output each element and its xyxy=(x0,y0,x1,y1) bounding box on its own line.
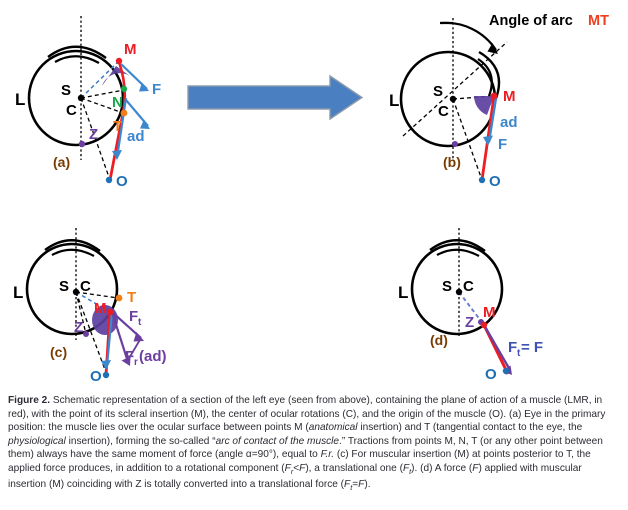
caption-italic-fr: F.r. xyxy=(321,449,334,460)
panel-d-label-M: M xyxy=(483,304,496,321)
panel-a-point-M xyxy=(116,58,122,64)
panel-c-label-Fr-suffix: (ad) xyxy=(139,348,167,365)
panel-c-label-Fr: F r (ad) xyxy=(125,348,167,368)
rightwards-block-arrow-icon xyxy=(188,76,362,119)
panel-c-point-T xyxy=(116,295,123,302)
panel-d-label-O: O xyxy=(485,366,497,383)
panel-d-label-Ft-main: F xyxy=(508,339,517,356)
caption-part-2: insertion) and T (tangential contact to … xyxy=(358,422,583,433)
caption-italic-arc-of-contact: arc of contact of the muscle xyxy=(216,436,339,447)
panel-b-force-arrowhead xyxy=(483,136,493,147)
panel-d-point-C xyxy=(456,289,462,295)
panel-a-label-S: S xyxy=(61,82,71,99)
caption-part-7: ), a translational one ( xyxy=(305,463,403,474)
panel-b-title-plain: Angle of arc xyxy=(489,13,573,29)
panel-c-label-O: O xyxy=(90,368,102,385)
panel-a-panel-label: (a) xyxy=(53,154,70,170)
panel-b-label-S: S xyxy=(433,83,443,100)
panel-c-cornea-inner-arc xyxy=(52,250,94,256)
panel-c-point-Z xyxy=(83,331,89,337)
figure-number: Figure 2. xyxy=(8,395,50,406)
panel-b: L S C M ad F O (b) Angle of arc MT xyxy=(389,13,609,190)
transition-arrow xyxy=(188,76,362,119)
figure-2-container: L S C M N T Z O F ad (a) xyxy=(0,0,628,510)
panel-d-panel-label: (d) xyxy=(430,332,448,348)
panel-d-Ft-vector xyxy=(484,325,510,370)
panel-b-label-F: F xyxy=(498,136,507,153)
panel-b-panel-label: (b) xyxy=(443,154,461,170)
caption-italic-anatomical: anatomical xyxy=(309,422,358,433)
panel-b-title-highlight: MT xyxy=(588,13,609,29)
panel-a-point-Z xyxy=(79,141,85,147)
panel-b-label-L: L xyxy=(389,91,399,110)
panel-c: L S C T M Z O F t F r (ad) (c) xyxy=(13,228,167,385)
panel-a-label-ad: ad xyxy=(127,128,145,145)
panel-c-label-Fr-sub: r xyxy=(134,357,138,368)
panel-a-label-C: C xyxy=(66,102,77,119)
panel-a-label-N: N xyxy=(112,94,123,111)
panel-a-label-F: F xyxy=(152,81,161,98)
panel-c-label-S: S xyxy=(59,278,69,295)
panel-a-point-C xyxy=(78,95,84,101)
diagram-area: L S C M N T Z O F ad (a) xyxy=(0,0,628,388)
panel-d-point-O xyxy=(503,368,509,374)
panel-c-label-L: L xyxy=(13,283,23,302)
panel-c-force-resultant-arrowhead xyxy=(101,360,111,370)
caption-part-8: ). (d) A force ( xyxy=(411,463,472,474)
panel-b-label-C: C xyxy=(438,103,449,120)
panel-a-cornea-inner-arc xyxy=(55,56,99,63)
schematic-svg: L S C M N T Z O F ad (a) xyxy=(0,0,628,388)
panel-d-point-M xyxy=(481,322,487,328)
caption-part-11: ). xyxy=(364,479,370,490)
panel-a-label-T: T xyxy=(113,118,122,135)
panel-a-label-O: O xyxy=(116,173,128,190)
panel-a-point-N xyxy=(121,86,127,92)
panel-b-point-Z xyxy=(452,141,458,147)
panel-c-point-M xyxy=(107,309,113,315)
panel-c-label-Ft: F t xyxy=(129,308,142,328)
panel-c-label-C: C xyxy=(80,278,91,295)
panel-d-label-S: S xyxy=(442,278,452,295)
panel-b-label-O: O xyxy=(489,173,501,190)
panel-c-label-Z: Z xyxy=(74,319,83,336)
panel-a-point-O xyxy=(106,177,112,183)
panel-b-point-M xyxy=(491,93,498,100)
figure-caption: Figure 2. Schematic representation of a … xyxy=(0,388,628,510)
panel-b-label-ad: ad xyxy=(500,114,518,131)
panel-a-label-L: L xyxy=(15,90,25,109)
panel-d-label-C: C xyxy=(463,278,474,295)
panel-b-point-C xyxy=(450,96,456,102)
panel-d-label-Z: Z xyxy=(465,314,474,331)
panel-c-label-Fr-main: F xyxy=(125,348,134,365)
panel-d-label-L: L xyxy=(398,283,408,302)
panel-b-label-M: M xyxy=(503,88,516,105)
panel-c-label-T: T xyxy=(127,289,136,306)
panel-d-label-Ft: F t = F xyxy=(508,339,543,359)
panel-c-point-O xyxy=(103,372,109,378)
panel-a: L S C M N T Z O F ad (a) xyxy=(15,16,161,190)
panel-a-label-Z: Z xyxy=(89,126,98,143)
caption-part-3: insertion), forming the so-called “ xyxy=(66,436,216,447)
panel-c-panel-label: (c) xyxy=(50,344,67,360)
caption-italic-physiological: physiological xyxy=(8,436,66,447)
panel-b-rotation-arrowhead xyxy=(488,43,499,54)
panel-a-label-M: M xyxy=(124,41,137,58)
panel-a-globe xyxy=(29,51,123,145)
panel-c-label-Ft-main: F xyxy=(129,308,138,325)
panel-d-label-Ft-eq: = F xyxy=(521,339,543,356)
panel-a-radius-to-M xyxy=(81,61,119,98)
panel-d: L S C Z M O F t = F (d) xyxy=(398,228,543,383)
panel-c-label-M: M xyxy=(94,300,107,317)
panel-c-point-C xyxy=(73,289,79,295)
panel-c-label-Ft-sub: t xyxy=(138,317,142,328)
panel-b-rotation-arc xyxy=(441,23,496,50)
panel-b-point-O xyxy=(479,177,485,183)
